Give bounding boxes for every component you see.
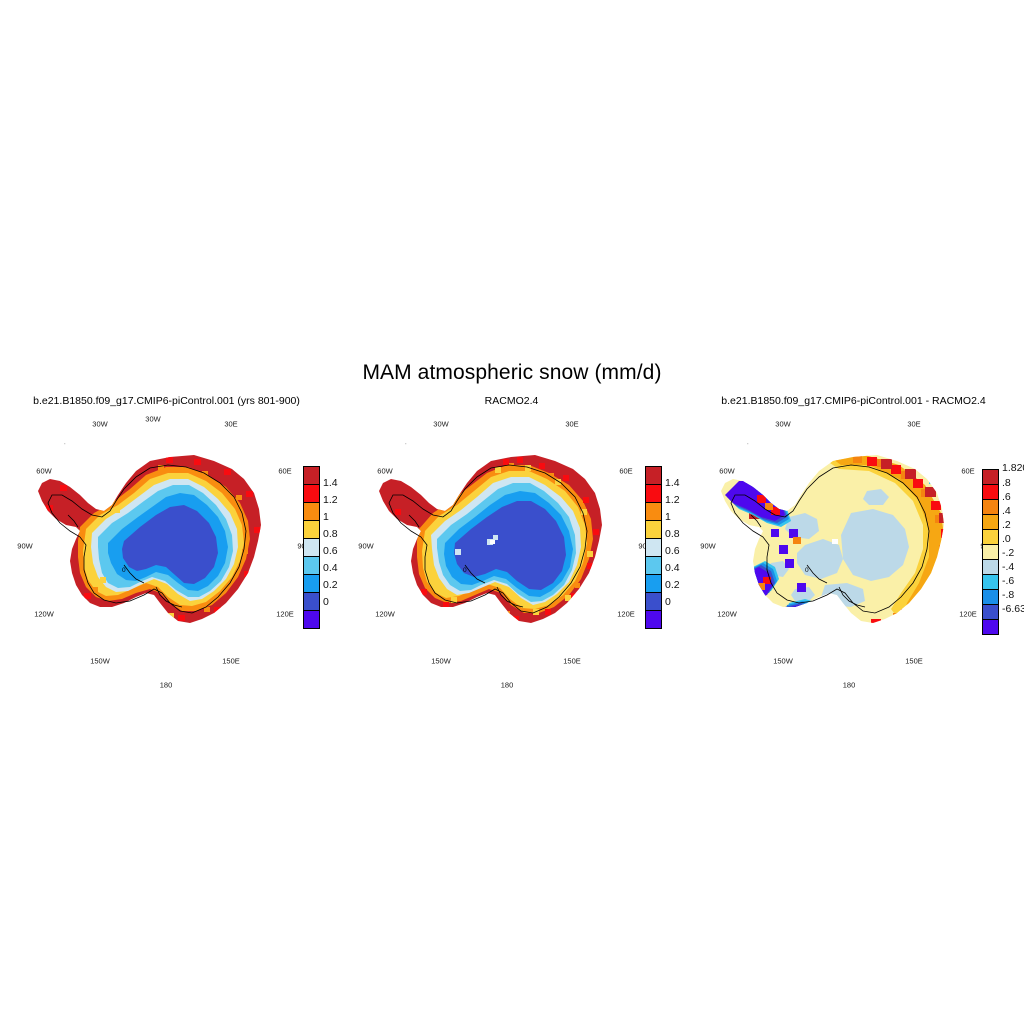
cbar-tick-label: 0.6 bbox=[323, 545, 338, 557]
cbar-tick-label: 0.2 bbox=[665, 579, 680, 591]
panel-title: RACMO2.4 bbox=[341, 395, 682, 407]
cbar-band bbox=[303, 539, 320, 557]
cbar-band bbox=[645, 466, 662, 485]
cbar-tick-label: .8 bbox=[1002, 477, 1011, 489]
cbar-tick-label: -.6 bbox=[1002, 575, 1014, 587]
cbar-tick-label: .2 bbox=[1002, 519, 1011, 531]
cbar-band bbox=[645, 593, 662, 611]
cbar-tick-label: 1.820 bbox=[1002, 462, 1024, 474]
lon-label-180: 180 bbox=[843, 681, 856, 690]
cbar-tick-label: -.4 bbox=[1002, 561, 1014, 573]
cbar-band bbox=[303, 611, 320, 629]
cbar-band bbox=[982, 620, 999, 635]
cbar-band bbox=[645, 557, 662, 575]
cbar-band bbox=[645, 503, 662, 521]
cbar-band bbox=[982, 575, 999, 590]
panel-model: b.e21.B1850.f09_g17.CMIP6-piControl.001 … bbox=[0, 395, 341, 695]
cbar-tick-label: -.8 bbox=[1002, 589, 1014, 601]
contour-zero-label: 0 bbox=[463, 567, 467, 574]
colorbar-model[interactable]: 1.4 1.2 1 0.8 0.6 0.4 0.2 0 bbox=[303, 466, 318, 629]
cbar-tick-label: 0 bbox=[323, 596, 329, 608]
figure-canvas: MAM atmospheric snow (mm/d) b.e21.B1850.… bbox=[0, 0, 1024, 1024]
cbar-tick-label: .0 bbox=[1002, 533, 1011, 545]
contour-zero-label: 0 bbox=[805, 567, 809, 574]
cbar-tick-label: -6.63 bbox=[1002, 603, 1024, 615]
cbar-tick-label: 0 bbox=[665, 596, 671, 608]
cbar-band bbox=[982, 469, 999, 485]
panel-title: b.e21.B1850.f09_g17.CMIP6-piControl.001 … bbox=[0, 395, 337, 407]
cbar-band bbox=[645, 611, 662, 629]
lon-label-180: 180 bbox=[160, 681, 173, 690]
cbar-band bbox=[982, 485, 999, 500]
cbar-band bbox=[303, 575, 320, 593]
cbar-band bbox=[982, 545, 999, 560]
cbar-band bbox=[303, 593, 320, 611]
cbar-tick-label: 1.4 bbox=[323, 477, 338, 489]
panel-racmo: RACMO2.4 30W 30E 60W 60E 90W 90E 120W 12… bbox=[341, 395, 682, 695]
lon-label-180: 180 bbox=[501, 681, 514, 690]
cbar-tick-label: 0.8 bbox=[665, 528, 680, 540]
cbar-band bbox=[982, 590, 999, 605]
cbar-band bbox=[982, 605, 999, 620]
svg-text:˙: ˙ bbox=[747, 443, 749, 451]
cbar-band bbox=[303, 557, 320, 575]
panel-title: b.e21.B1850.f09_g17.CMIP6-piControl.001 … bbox=[683, 395, 1024, 407]
figure-title: MAM atmospheric snow (mm/d) bbox=[0, 361, 1024, 385]
svg-text:˙: ˙ bbox=[64, 443, 66, 451]
colorbar-racmo[interactable]: 1.4 1.2 1 0.8 0.6 0.4 0.2 0 bbox=[645, 466, 660, 629]
contour-zero-label: 0 bbox=[122, 567, 126, 574]
cbar-band bbox=[303, 521, 320, 539]
cbar-tick-label: 0.4 bbox=[323, 562, 338, 574]
cbar-band bbox=[645, 539, 662, 557]
cbar-band bbox=[303, 466, 320, 485]
cbar-band bbox=[982, 560, 999, 575]
cbar-band bbox=[645, 485, 662, 503]
cbar-tick-label: 0.4 bbox=[665, 562, 680, 574]
cbar-tick-label: 0.6 bbox=[665, 545, 680, 557]
cbar-band bbox=[303, 485, 320, 503]
map-plot-area: 30W 30E 60W 60E 90W 90E 120W 120E 150W 1… bbox=[701, 417, 971, 679]
cbar-tick-label: 1.4 bbox=[665, 477, 680, 489]
cbar-tick-label: 1.2 bbox=[323, 494, 338, 506]
cbar-tick-label: 0.8 bbox=[323, 528, 338, 540]
cbar-tick-label: .6 bbox=[1002, 491, 1011, 503]
map-plot-area: 30W 30W 30E 60W 60E 90W 90E 120W 120E 15… bbox=[18, 417, 288, 679]
panel-difference: b.e21.B1850.f09_g17.CMIP6-piControl.001 … bbox=[683, 395, 1024, 695]
cbar-band bbox=[982, 530, 999, 545]
svg-text:˙: ˙ bbox=[405, 443, 407, 451]
antarctica-map-racmo: 0 ˙ bbox=[359, 417, 629, 679]
cbar-band bbox=[982, 515, 999, 530]
cbar-tick-label: 1 bbox=[665, 511, 671, 523]
cbar-tick-label: 0.2 bbox=[323, 579, 338, 591]
antarctica-map-difference: 0 ˙ bbox=[701, 417, 971, 679]
cbar-band bbox=[645, 575, 662, 593]
cbar-band bbox=[645, 521, 662, 539]
cbar-tick-label: 1.2 bbox=[665, 494, 680, 506]
cbar-band bbox=[303, 503, 320, 521]
colorbar-difference[interactable]: 1.820 .8 .6 .4 .2 .0 -.2 -.4 -.6 -.8 -6.… bbox=[982, 469, 997, 635]
cbar-tick-label: .4 bbox=[1002, 505, 1011, 517]
cbar-band bbox=[982, 500, 999, 515]
map-plot-area: 30W 30E 60W 60E 90W 90E 120W 120E 150W 1… bbox=[359, 417, 629, 679]
cbar-tick-label: 1 bbox=[323, 511, 329, 523]
antarctica-map-model: 0 ˙ bbox=[18, 417, 288, 679]
cbar-tick-label: -.2 bbox=[1002, 547, 1014, 559]
